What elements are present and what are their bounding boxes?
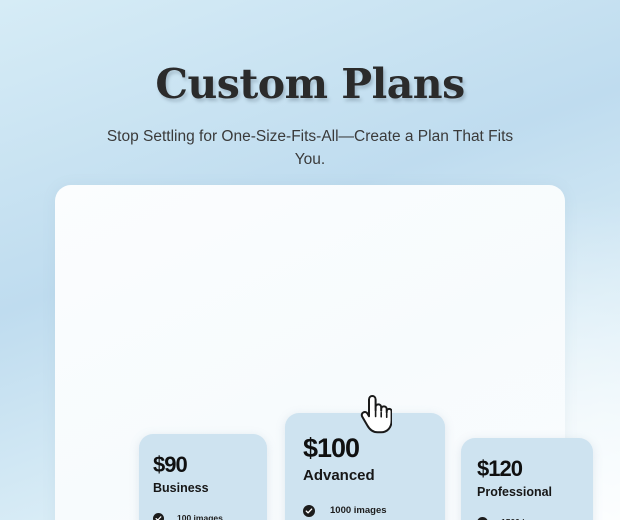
page-subtitle: Stop Settling for One-Size-Fits-All—Crea…	[95, 108, 525, 172]
feature-list: 1500 image 10000 chat 20 video	[477, 500, 577, 520]
check-circle-icon	[303, 505, 315, 517]
feature-list: 100 images 10000 chat	[153, 496, 253, 520]
pricing-panel: $90 Business 100 images 10000 chat Choos…	[55, 185, 565, 520]
pricing-page: Custom Plans Stop Settling for One-Size-…	[0, 0, 620, 520]
pricing-card-advanced[interactable]: $100 Advanced 1000 images 10000 chat	[285, 413, 445, 520]
list-item: 1000 images	[303, 505, 427, 520]
plan-price: $100	[303, 435, 427, 462]
list-item: 100 images	[153, 513, 253, 520]
pricing-card-professional[interactable]: $120 Professional 1500 image 10000 chat	[461, 438, 593, 520]
feature-label: 100 images	[164, 513, 223, 520]
feature-label: 1000 images	[315, 505, 387, 516]
pricing-card-business[interactable]: $90 Business 100 images 10000 chat Choos…	[139, 434, 267, 520]
plan-name: Advanced	[303, 462, 427, 485]
plan-price: $90	[153, 454, 253, 476]
page-header: Custom Plans Stop Settling for One-Size-…	[0, 0, 620, 172]
page-title: Custom Plans	[0, 0, 620, 108]
check-circle-icon	[153, 513, 164, 520]
plan-price: $120	[477, 458, 577, 480]
feature-list: 1000 images 10000 chat 10 video	[303, 485, 427, 520]
plan-name: Professional	[477, 480, 577, 500]
plan-name: Business	[153, 476, 253, 496]
